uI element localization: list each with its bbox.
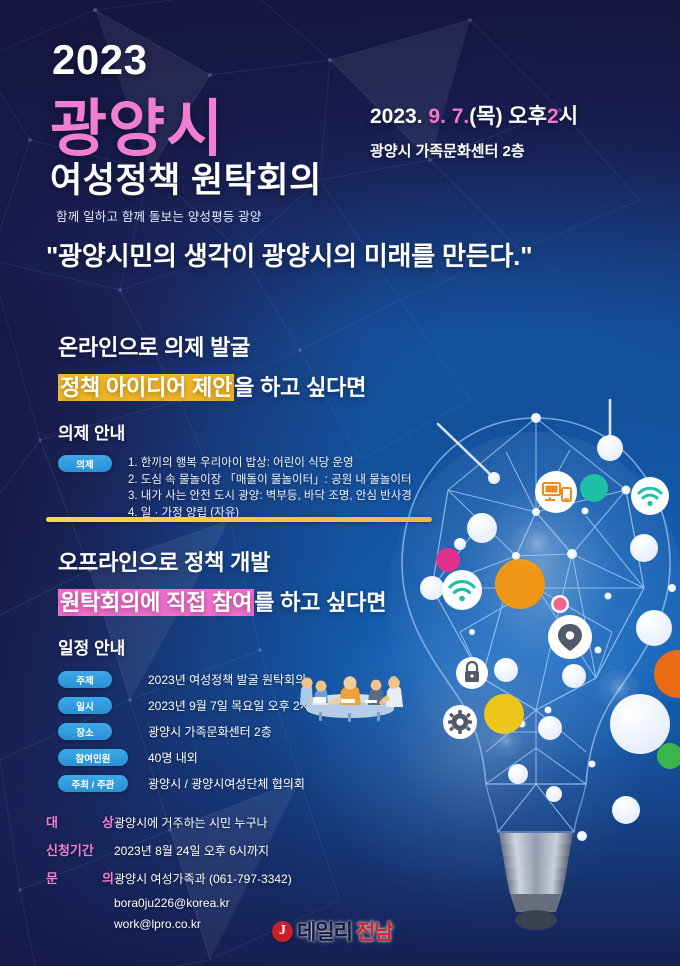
footer-row-target: 대 상 광양시에 거주하는 시민 누구나	[46, 812, 466, 831]
footer-key-target-a: 대	[46, 812, 58, 831]
agenda-block: 의제 1. 한끼의 행복 우리아이 밥상: 어린이 식당 운영 2. 도심 속 …	[58, 455, 468, 522]
footer-key-inquiry: 문 의	[46, 868, 114, 887]
online-heading: 온라인으로 의제 발굴	[58, 330, 468, 362]
date-year: 2023.	[370, 105, 428, 128]
online-subheading: 정책 아이디어 제안을 하고 싶다면	[58, 370, 468, 402]
agenda-list: 1. 한끼의 행복 우리아이 밥상: 어린이 식당 운영 2. 도심 속 물놀이…	[128, 455, 412, 522]
schedule-badge: 일시	[58, 697, 112, 714]
schedule-key: 일시	[58, 697, 136, 714]
date-day: 7.	[452, 105, 470, 128]
offline-heading: 오프라인으로 정책 개발	[58, 545, 468, 577]
online-subheading-rest: 을 하고 싶다면	[234, 375, 366, 400]
poster-year: 2023	[52, 36, 147, 84]
poster-slogan: 함께 일하고 함께 돌보는 양성평등 광양	[56, 206, 262, 225]
publisher-logo: 데일리전남	[272, 916, 393, 946]
footer-value-period: 2023년 8월 24일 오후 6시까지	[114, 842, 269, 859]
logo-text-jeonnam: 전남	[356, 916, 393, 946]
schedule-value: 2023년 여성정책 발굴 원탁회의	[148, 671, 306, 688]
footer-key-inquiry-a: 문	[46, 868, 58, 887]
poster-main-title: 여성정책 원탁회의	[50, 152, 322, 203]
footer-info: 대 상 광양시에 거주하는 시민 누구나 신청기간 2023년 8월 24일 오…	[46, 812, 466, 938]
event-date-line: 2023. 9. 7.(목) 오후2시	[370, 100, 578, 130]
schedule-badge: 참여인원	[58, 749, 128, 766]
footer-value-inquiry: 광양시 여성가족과 (061-797-3342)	[114, 870, 292, 887]
agenda-badge: 의제	[58, 455, 112, 472]
footer-row-inquiry: 문 의 광양시 여성가족과 (061-797-3342)	[46, 868, 466, 887]
logo-text-daily: 데일리	[297, 916, 352, 946]
footer-row-period: 신청기간 2023년 8월 24일 오후 6시까지	[46, 840, 466, 859]
footer-key-period: 신청기간	[46, 840, 114, 859]
logo-circle-j-icon	[272, 921, 293, 942]
event-venue: 광양시 가족문화센터 2층	[370, 140, 578, 161]
table-row: 참여인원 40명 내외	[58, 749, 468, 766]
footer-value-target: 광양시에 거주하는 시민 누구나	[114, 814, 268, 831]
agenda-section-title: 의제 안내	[58, 419, 468, 444]
footer-key-target: 대 상	[46, 812, 114, 831]
list-item: 3. 내가 사는 안전 도시 광양: 벽부등, 바닥 조명, 안심 반사경	[128, 488, 412, 505]
list-item: 1. 한끼의 행복 우리아이 밥상: 어린이 식당 운영	[128, 455, 412, 472]
offline-subheading-rest: 를 하고 싶다면	[254, 590, 386, 615]
round-table-meeting-illustration	[285, 663, 415, 725]
schedule-badge: 주최 / 주관	[58, 775, 128, 792]
poster-quote: "광양시민의 생각이 광양시의 미래를 만든다."	[46, 236, 532, 273]
date-hour-unit: 시	[559, 105, 578, 128]
footer-email-primary: bora0ju226@korea.kr	[114, 896, 466, 910]
offline-highlight: 원탁회의에 직접 참여	[58, 589, 254, 616]
schedule-badge: 장소	[58, 723, 112, 740]
schedule-value: 40명 내외	[148, 749, 198, 766]
footer-key-target-b: 상	[102, 812, 114, 831]
date-hour: 2	[547, 105, 559, 128]
offline-subheading: 원탁회의에 직접 참여를 하고 싶다면	[58, 585, 468, 617]
list-item: 2. 도심 속 물놀이장 「매돌이 물놀이터」: 공원 내 물놀이터	[128, 472, 412, 489]
schedule-value: 광양시 / 광양시여성단체 협의회	[148, 775, 305, 792]
footer-key-inquiry-b: 의	[102, 868, 114, 887]
date-weekday: (목) 오후	[469, 105, 547, 128]
schedule-key: 주최 / 주관	[58, 775, 136, 792]
table-row: 장소 광양시 가족문화센터 2층	[58, 723, 468, 740]
schedule-badge: 주제	[58, 671, 112, 688]
schedule-value: 광양시 가족문화센터 2층	[148, 723, 272, 740]
poster-canvas: 2023 광양시 여성정책 원탁회의 2023. 9. 7.(목) 오후2시 광…	[0, 0, 680, 966]
section-online: 온라인으로 의제 발굴 정책 아이디어 제안을 하고 싶다면 의제 안내 의제 …	[58, 330, 468, 522]
section-divider	[46, 517, 432, 522]
date-month: 9.	[428, 105, 451, 128]
online-highlight: 정책 아이디어 제안	[58, 374, 234, 401]
table-row: 주최 / 주관 광양시 / 광양시여성단체 협의회	[58, 775, 468, 792]
schedule-section-title: 일정 안내	[58, 634, 468, 659]
schedule-key: 장소	[58, 723, 136, 740]
event-datetime-block: 2023. 9. 7.(목) 오후2시 광양시 가족문화센터 2층	[370, 100, 578, 161]
schedule-key: 주제	[58, 671, 136, 688]
schedule-key: 참여인원	[58, 749, 136, 766]
